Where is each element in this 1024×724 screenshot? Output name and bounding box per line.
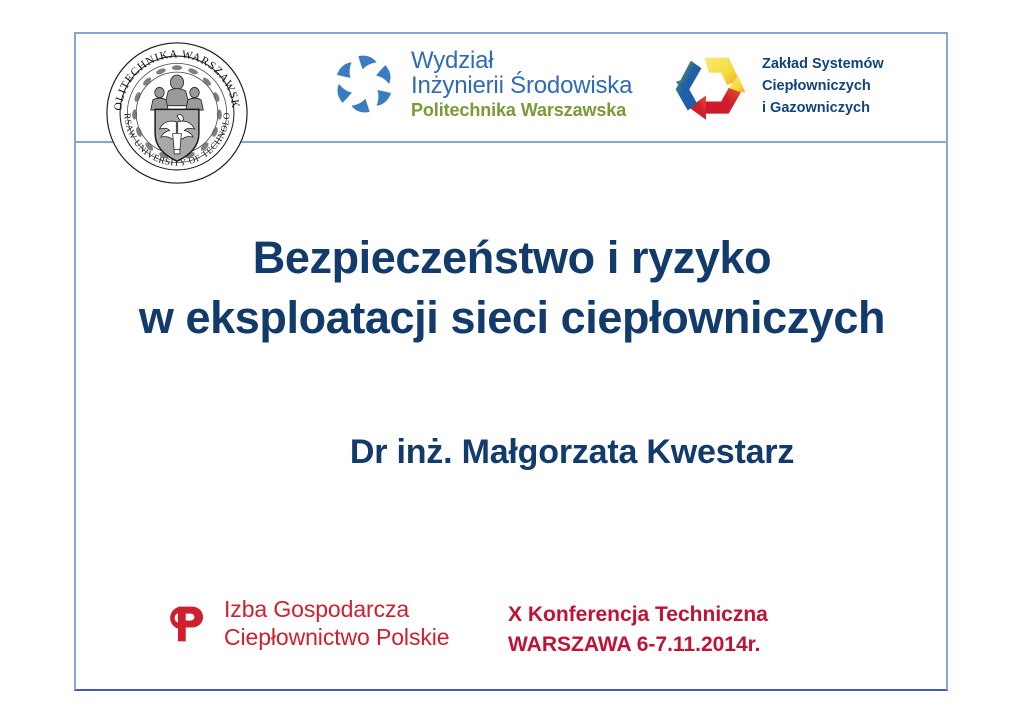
- slide-header: POLITECHNIKA WARSZAWSKA WARSAW UNIVERSIT…: [74, 34, 948, 141]
- conference-info: X Konferencja Techniczna WARSZAWA 6-7.11…: [508, 600, 768, 660]
- igcp-logo-line1: Izba Gospodarcza: [224, 596, 449, 624]
- department-logo: Zakład Systemów Ciepłowniczych i Gazowni…: [670, 50, 884, 122]
- faculty-logo-line3: Politechnika Warszawska: [411, 101, 632, 120]
- recycle-arrows-icon: [670, 50, 748, 122]
- igcp-logo-line2: Ciepłownictwo Polskie: [224, 624, 449, 652]
- slide-title: Bezpieczeństwo i ryzyko w eksploatacji s…: [0, 228, 1024, 348]
- department-logo-line1: Zakład Systemów: [762, 53, 884, 75]
- presentation-slide: POLITECHNIKA WARSZAWSKA WARSAW UNIVERSIT…: [0, 0, 1024, 724]
- conference-name: X Konferencja Techniczna: [508, 600, 768, 630]
- department-logo-line3: i Gazowniczych: [762, 97, 884, 119]
- slide-author: Dr inż. Małgorzata Kwestarz: [0, 433, 1024, 472]
- slide-title-line2: w eksploatacji sieci ciepłowniczych: [0, 288, 1024, 348]
- faculty-pinwheel-icon: [329, 49, 399, 119]
- slide-title-line1: Bezpieczeństwo i ryzyko: [0, 228, 1024, 288]
- department-logo-line2: Ciepłowniczych: [762, 75, 884, 97]
- warsaw-university-seal-icon: POLITECHNIKA WARSZAWSKA WARSAW UNIVERSIT…: [104, 40, 250, 186]
- faculty-logo-line1: Wydział: [411, 48, 632, 73]
- faculty-logo: Wydział Inżynierii Środowiska Politechni…: [329, 48, 632, 120]
- igcp-cp-monogram-icon: [158, 598, 210, 650]
- faculty-logo-line2: Inżynierii Środowiska: [411, 73, 632, 98]
- igcp-logo: Izba Gospodarcza Ciepłownictwo Polskie: [158, 596, 449, 651]
- conference-date-location: WARSZAWA 6-7.11.2014r.: [508, 630, 768, 660]
